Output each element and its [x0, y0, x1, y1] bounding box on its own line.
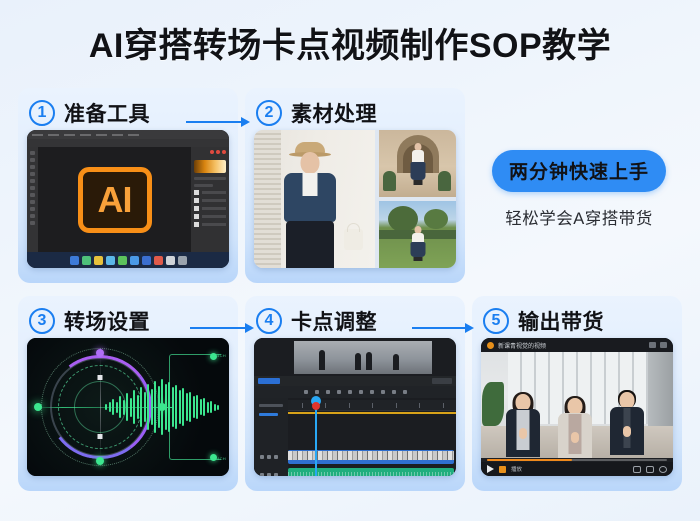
step-title-2: 素材处理 [291, 98, 377, 128]
figure-skirt [410, 162, 425, 180]
film-strip [288, 451, 454, 460]
illustrator-logo-icon: AI [78, 167, 152, 233]
track-label-active [259, 413, 278, 416]
dial-marker [97, 375, 102, 380]
audio-waveform [105, 378, 219, 436]
step-header-2: 2 素材处理 [254, 96, 456, 130]
layer-row [194, 198, 226, 203]
step-title-3: 转场设置 [64, 306, 150, 336]
promo-block: 两分钟快速上手 轻松学会A穿搭带货 [468, 150, 690, 229]
photo-model-lawn [379, 201, 456, 268]
transition-tech-visualization: 4CH 4CH [27, 338, 229, 476]
step-card-2[interactable]: 2 素材处理 [245, 88, 465, 283]
dial-marker [97, 434, 102, 439]
step-number-icon: 2 [256, 100, 282, 126]
sequence-bar [254, 376, 456, 386]
menu-icon[interactable] [660, 342, 667, 348]
thumbs-up-gesture [519, 428, 527, 439]
transport-controls[interactable] [254, 386, 456, 398]
video-stage [481, 352, 673, 458]
app-menubar [27, 130, 229, 139]
thumbs-up-gesture [571, 432, 579, 443]
step-thumbnail-1[interactable]: AI [27, 130, 229, 268]
steps-grid: 1 准备工具 AI [18, 88, 682, 491]
player-controls: 播放 [481, 462, 673, 476]
arrow-right-icon [465, 323, 474, 333]
node-label-bottom: 4CH [217, 456, 226, 461]
promo-badge[interactable]: 两分钟快速上手 [492, 150, 666, 192]
arrow-right-icon [241, 117, 250, 127]
step-card-5[interactable]: 5 输出带货 新课青视觉的视频 [472, 296, 682, 491]
layer-row [194, 222, 226, 227]
step-number-icon: 4 [256, 308, 282, 334]
progress-bar[interactable] [487, 459, 667, 461]
potted-plant [438, 171, 451, 191]
canvas-area: AI [38, 147, 191, 252]
layer-row [194, 206, 226, 211]
dial-node-top [96, 349, 104, 357]
photo-model-arch [379, 130, 456, 197]
step-title-5: 输出带货 [518, 306, 604, 336]
promo-subtitle: 轻松学会A穿搭带货 [468, 205, 690, 229]
model-shirt [302, 173, 317, 196]
arrow-step3-to-step4 [190, 322, 254, 334]
layer-row [194, 190, 226, 195]
figure-skirt [410, 242, 425, 257]
progress-fill [487, 459, 572, 461]
player-time-label: 播放 [511, 465, 522, 473]
sequence-options[interactable] [432, 378, 452, 384]
person-center [556, 398, 594, 458]
step-thumbnail-4[interactable] [254, 338, 456, 476]
video-editing-timeline [254, 338, 456, 476]
model-pants [286, 221, 334, 268]
model-handbag [344, 229, 363, 250]
settings-icon[interactable] [633, 466, 641, 473]
app-toolbar [27, 139, 229, 147]
step-header-5: 5 输出带货 [481, 304, 673, 338]
connector-node-top [210, 353, 217, 360]
dial-node-left [34, 403, 42, 411]
app-logo-icon [487, 342, 494, 349]
step-number-icon: 3 [29, 308, 55, 334]
playhead[interactable] [315, 400, 317, 476]
model-head [300, 152, 319, 174]
fullscreen-icon[interactable] [659, 466, 667, 473]
minimize-icon[interactable] [649, 342, 656, 348]
panel-row [194, 184, 213, 187]
illustrator-app-screenshot: AI [27, 130, 229, 268]
photo-model-denim [254, 130, 375, 268]
next-icon[interactable] [499, 466, 506, 473]
like-icon[interactable] [646, 466, 654, 473]
panel-dots-icon [210, 150, 226, 154]
arrow-shaft [190, 327, 245, 329]
gradient-swatch [194, 160, 226, 173]
step-number-icon: 5 [483, 308, 509, 334]
sequence-tab[interactable] [258, 378, 280, 384]
photo-column [379, 130, 456, 268]
step-thumbnail-2[interactable] [254, 130, 456, 268]
right-panels [191, 147, 229, 252]
fashion-photo-collage [254, 130, 456, 268]
person-left [503, 394, 543, 458]
arrow-step1-to-step2 [186, 116, 250, 128]
step-title-4: 卡点调整 [291, 306, 377, 336]
window-blinds [254, 130, 281, 268]
step-number-icon: 1 [29, 100, 55, 126]
layer-row [194, 214, 226, 219]
step-thumbnail-5[interactable]: 新课青视觉的视频 [481, 338, 673, 476]
arrow-shaft [186, 121, 241, 123]
tree [424, 209, 448, 229]
figure-legs [413, 180, 422, 185]
dial-node-bottom [96, 457, 104, 465]
arrow-step4-to-step5 [412, 322, 474, 334]
audio-track-controls[interactable] [256, 468, 288, 476]
potted-plant [383, 171, 396, 191]
model-figure [411, 143, 425, 185]
step-thumbnail-3[interactable]: 4CH 4CH [27, 338, 229, 476]
work-area-bar [288, 412, 456, 414]
play-icon[interactable] [487, 465, 494, 473]
arrow-shaft [412, 327, 465, 329]
macos-dock [27, 252, 229, 268]
node-label-top: 4CH [217, 353, 226, 358]
arrow-right-icon [245, 323, 254, 333]
indoor-plant [482, 382, 504, 426]
thumbs-up-gesture [623, 426, 631, 437]
connector-node-bottom [210, 454, 217, 461]
track-header-panel [254, 398, 288, 476]
video-player-preview: 新课青视觉的视频 [481, 338, 673, 476]
step-title-1: 准备工具 [64, 98, 150, 128]
figure-legs [413, 257, 422, 261]
video-track-controls[interactable] [256, 450, 288, 464]
audio-track-clip[interactable] [288, 468, 454, 476]
person-right [606, 392, 648, 458]
track-label [259, 404, 283, 407]
player-titlebar: 新课青视觉的视频 [481, 338, 673, 352]
tools-panel [27, 147, 38, 252]
page-title: AI穿搭转场卡点视频制作SOP教学 [0, 0, 700, 65]
video-title: 新课青视觉的视频 [498, 341, 645, 350]
video-track-clip[interactable] [288, 450, 454, 464]
program-monitor [294, 341, 431, 374]
panel-row [194, 177, 226, 180]
model-figure [412, 226, 424, 261]
